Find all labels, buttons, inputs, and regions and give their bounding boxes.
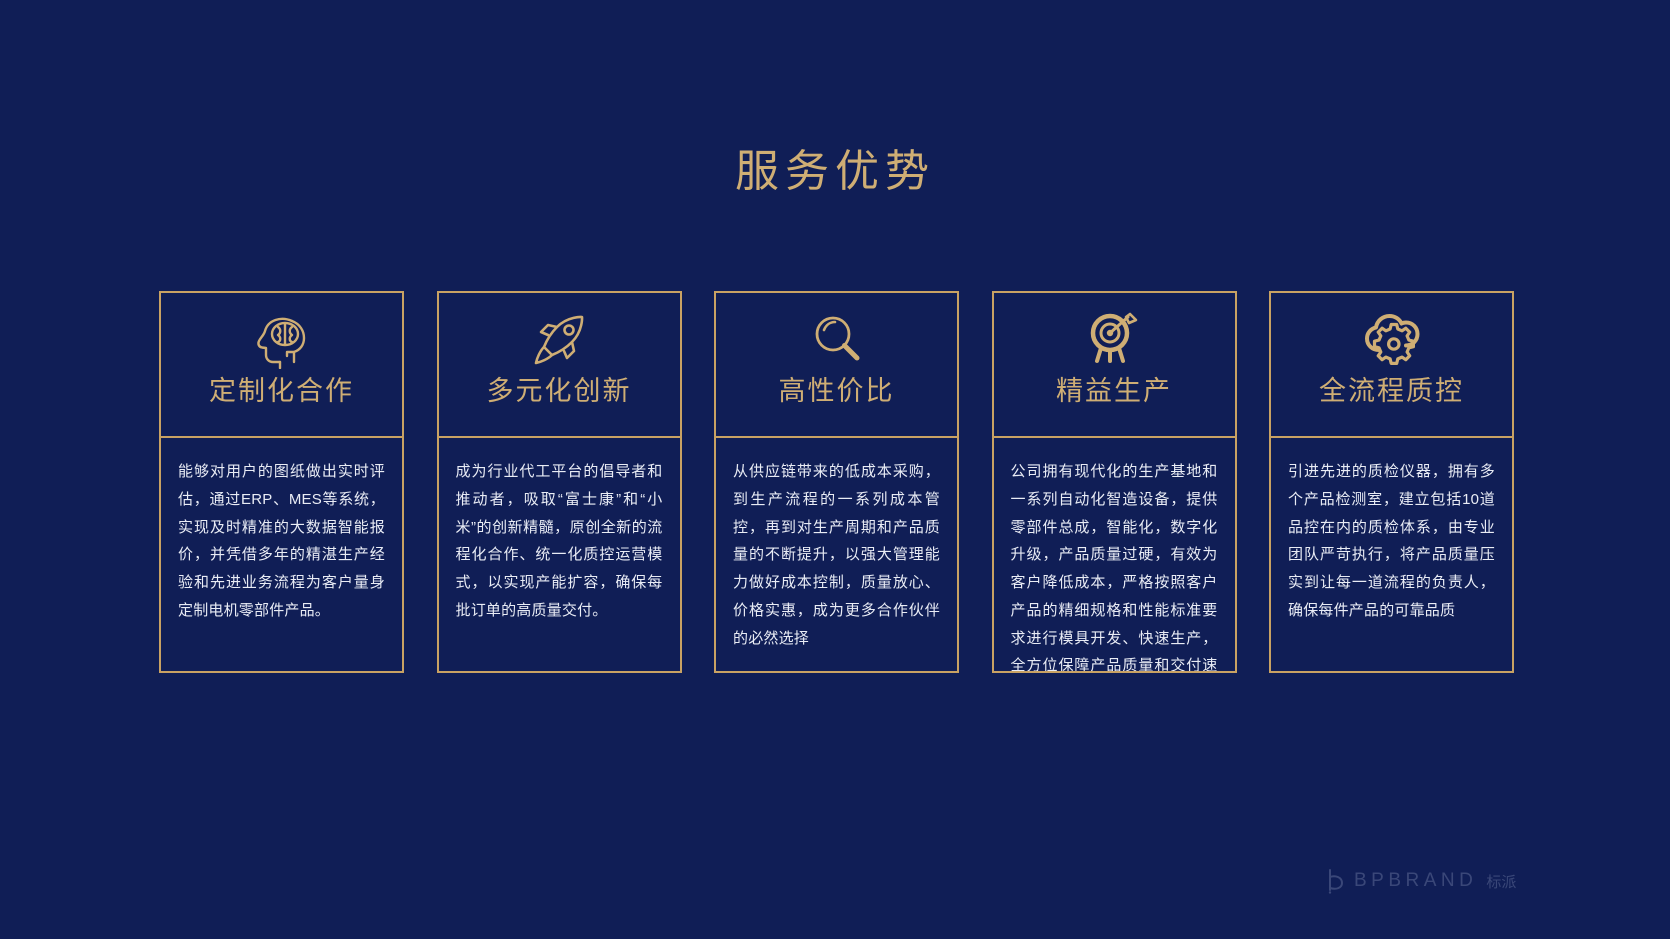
target-dartboard-icon [1084, 309, 1144, 371]
card-title: 全流程质控 [1319, 377, 1464, 407]
card-description: 公司拥有现代化的生产基地和一系列自动化智造设备，提供零部件总成，智能化，数字化升… [994, 438, 1235, 671]
card-header: 全流程质控 [1271, 293, 1512, 438]
brand-watermark: BPBRAND 标派 [1327, 868, 1516, 894]
brain-head-icon [254, 309, 310, 371]
card-description: 引进先进的质检仪器，拥有多个产品检测室，建立包括10道品控在内的质检体系，由专业… [1271, 438, 1512, 671]
page-title: 服务优势 [0, 146, 1670, 199]
watermark-brand-cn: 标派 [1486, 871, 1516, 892]
advantage-card[interactable]: 高性价比 从供应链带来的低成本采购，到生产流程的一系列成本管控，再到对生产周期和… [714, 291, 959, 673]
advantage-cards-row: 定制化合作 能够对用户的图纸做出实时评估，通过ERP、MES等系统，实现及时精准… [159, 291, 1514, 673]
card-title: 精益生产 [1056, 377, 1172, 407]
card-title: 多元化创新 [487, 377, 632, 407]
card-header: 多元化创新 [439, 293, 680, 438]
watermark-brand: BPBRAND [1354, 870, 1477, 892]
card-header: 高性价比 [716, 293, 957, 438]
advantage-card[interactable]: 多元化创新 成为行业代工平台的倡导者和推动者，吸取“富士康”和“小米”的创新精髓… [437, 291, 682, 673]
advantage-card[interactable]: 全流程质控 引进先进的质检仪器，拥有多个产品检测室，建立包括10道品控在内的质检… [1269, 291, 1514, 673]
cloud-gear-icon [1361, 309, 1423, 371]
magnifier-icon [809, 309, 865, 371]
card-description: 能够对用户的图纸做出实时评估，通过ERP、MES等系统，实现及时精准的大数据智能… [161, 438, 402, 671]
b-logo-icon [1327, 868, 1345, 894]
card-description: 从供应链带来的低成本采购，到生产流程的一系列成本管控，再到对生产周期和产品质量的… [716, 438, 957, 671]
rocket-icon [530, 309, 588, 371]
advantage-card[interactable]: 定制化合作 能够对用户的图纸做出实时评估，通过ERP、MES等系统，实现及时精准… [159, 291, 404, 673]
slide-canvas: 服务优势 定制化合作 能够对用户的图纸做出实时评估，通过ERP、MES等系统，实… [0, 0, 1670, 939]
card-title: 高性价比 [779, 377, 895, 407]
card-description: 成为行业代工平台的倡导者和推动者，吸取“富士康”和“小米”的创新精髓，原创全新的… [439, 438, 680, 671]
card-header: 定制化合作 [161, 293, 402, 438]
card-title: 定制化合作 [209, 377, 354, 407]
card-header: 精益生产 [994, 293, 1235, 438]
advantage-card[interactable]: 精益生产 公司拥有现代化的生产基地和一系列自动化智造设备，提供零部件总成，智能化… [992, 291, 1237, 673]
